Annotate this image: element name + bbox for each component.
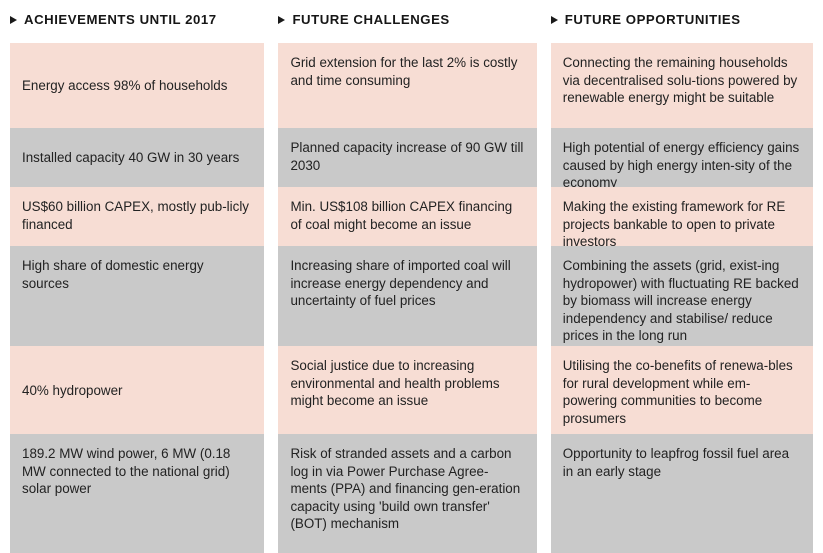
cell-text: US$60 billion CAPEX, mostly pub-licly fi… bbox=[22, 198, 252, 233]
cell-text: Social justice due to increasing environ… bbox=[290, 357, 524, 410]
table-cell: Utilising the co-benefits of renewa-bles… bbox=[551, 346, 813, 434]
cell-text: Risk of stranded assets and a carbon log… bbox=[290, 445, 524, 533]
table-cell: US$60 billion CAPEX, mostly pub-licly fi… bbox=[10, 187, 264, 246]
cell-text: Making the existing framework for RE pro… bbox=[563, 198, 801, 246]
column-title: FUTURE CHALLENGES bbox=[292, 13, 449, 26]
table-cell: High potential of energy efficiency gain… bbox=[551, 128, 813, 187]
table-cell: 40% hydropower bbox=[10, 346, 264, 434]
table-cell: Min. US$108 billion CAPEX financing of c… bbox=[278, 187, 536, 246]
cell-text: High potential of energy efficiency gain… bbox=[563, 139, 801, 187]
cell-text: Min. US$108 billion CAPEX financing of c… bbox=[290, 198, 524, 233]
cell-text: Connecting the remaining households via … bbox=[563, 54, 801, 107]
cell-text: Planned capacity increase of 90 GW till … bbox=[290, 139, 524, 174]
triangle-right-icon bbox=[10, 16, 17, 24]
column-header-achievements: ACHIEVEMENTS UNTIL 2017 bbox=[10, 0, 264, 26]
triangle-right-icon bbox=[278, 16, 285, 24]
table-cell: Opportunity to leapfrog fossil fuel area… bbox=[551, 434, 813, 553]
column-future-opportunities: Connecting the remaining households via … bbox=[551, 43, 813, 553]
table-cell: Risk of stranded assets and a carbon log… bbox=[278, 434, 536, 553]
column-achievements: Energy access 98% of households Installe… bbox=[10, 43, 264, 553]
column-future-challenges: Grid extension for the last 2% is costly… bbox=[278, 43, 536, 553]
cell-text: High share of domestic energy sources bbox=[22, 257, 252, 292]
column-header-future-opportunities: FUTURE OPPORTUNITIES bbox=[551, 0, 813, 26]
table-cell: Grid extension for the last 2% is costly… bbox=[278, 43, 536, 128]
three-column-comparison-table: ACHIEVEMENTS UNTIL 2017 FUTURE CHALLENGE… bbox=[0, 0, 823, 553]
cell-text: 40% hydropower bbox=[22, 382, 252, 400]
cell-text: Grid extension for the last 2% is costly… bbox=[290, 54, 524, 89]
table-cell: Making the existing framework for RE pro… bbox=[551, 187, 813, 246]
triangle-right-icon bbox=[551, 16, 558, 24]
cell-text: Increasing share of imported coal will i… bbox=[290, 257, 524, 310]
table-cell: Combining the assets (grid, exist-ing hy… bbox=[551, 246, 813, 346]
column-title: FUTURE OPPORTUNITIES bbox=[565, 13, 741, 26]
column-title: ACHIEVEMENTS UNTIL 2017 bbox=[24, 13, 217, 26]
table-cell: Connecting the remaining households via … bbox=[551, 43, 813, 128]
table-cell: Social justice due to increasing environ… bbox=[278, 346, 536, 434]
cell-text: 189.2 MW wind power, 6 MW (0.18 MW conne… bbox=[22, 445, 252, 498]
table-header-row: ACHIEVEMENTS UNTIL 2017 FUTURE CHALLENGE… bbox=[10, 0, 813, 43]
cell-text: Energy access 98% of households bbox=[22, 77, 252, 95]
table-cell: Increasing share of imported coal will i… bbox=[278, 246, 536, 346]
table-cell: Planned capacity increase of 90 GW till … bbox=[278, 128, 536, 187]
cell-text: Utilising the co-benefits of renewa-bles… bbox=[563, 357, 801, 427]
table-cell: Energy access 98% of households bbox=[10, 43, 264, 128]
cell-text: Opportunity to leapfrog fossil fuel area… bbox=[563, 445, 801, 480]
table-cell: High share of domestic energy sources bbox=[10, 246, 264, 346]
table-body: Energy access 98% of households Installe… bbox=[10, 43, 813, 553]
table-cell: 189.2 MW wind power, 6 MW (0.18 MW conne… bbox=[10, 434, 264, 553]
cell-text: Installed capacity 40 GW in 30 years bbox=[22, 149, 252, 167]
table-cell: Installed capacity 40 GW in 30 years bbox=[10, 128, 264, 187]
cell-text: Combining the assets (grid, exist-ing hy… bbox=[563, 257, 801, 345]
column-header-future-challenges: FUTURE CHALLENGES bbox=[278, 0, 536, 26]
